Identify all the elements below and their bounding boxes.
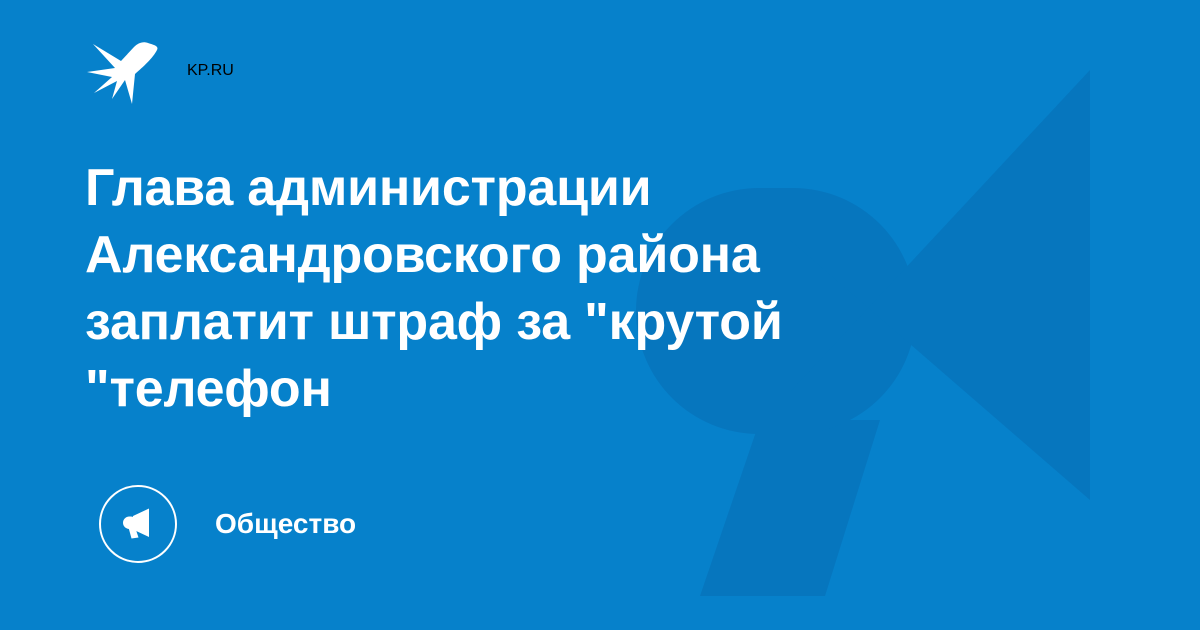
- category-label: Общество: [215, 510, 356, 538]
- headline-line: "телефон: [85, 356, 945, 423]
- headline-line: Александровского района: [85, 222, 945, 289]
- brand-logo[interactable]: KP.RU: [85, 33, 234, 109]
- brand-name: KP.RU: [187, 62, 234, 80]
- category-icon-circle: [99, 485, 177, 563]
- article-share-card: KP.RU Глава администрации Александровско…: [0, 0, 1200, 630]
- headline-line: Глава администрации: [85, 155, 945, 222]
- megaphone-icon: [116, 502, 160, 546]
- category-badge[interactable]: Общество: [99, 484, 356, 564]
- headline-line: заплатит штраф за "крутой: [85, 289, 945, 356]
- page-title: Глава администрации Александровского рай…: [85, 155, 945, 423]
- swallow-bird-icon: [85, 36, 165, 106]
